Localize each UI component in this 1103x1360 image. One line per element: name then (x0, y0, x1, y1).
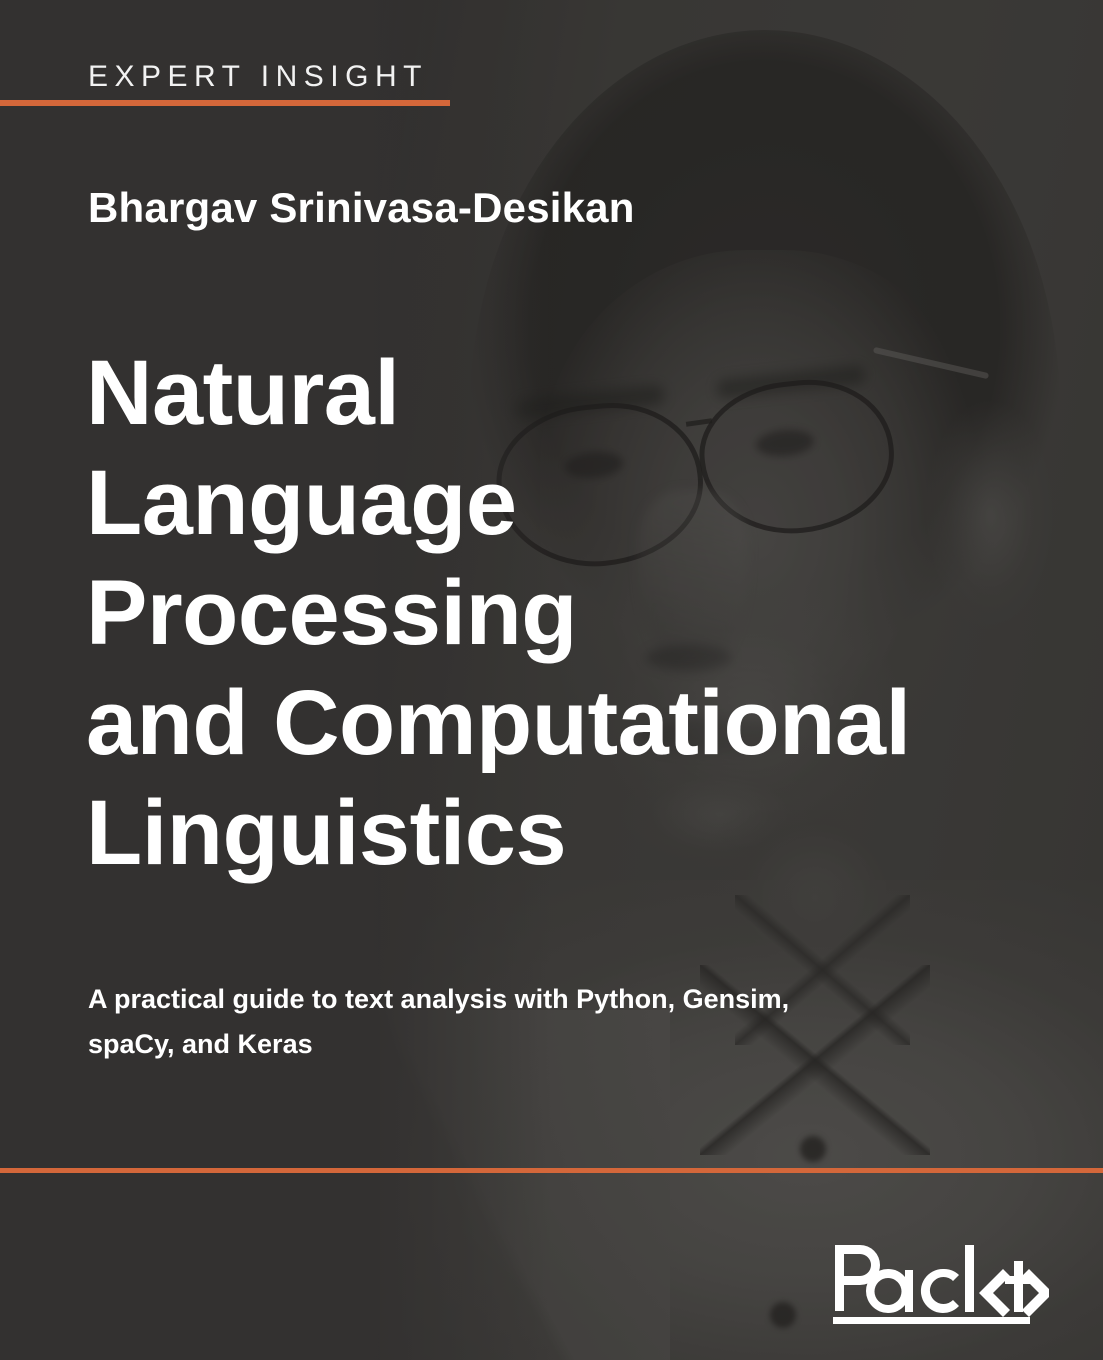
subtitle-line: A practical guide to text analysis with … (88, 977, 968, 1022)
title-line: Natural (86, 338, 1046, 448)
accent-rule-bottom (0, 1168, 1103, 1173)
title-line: and Computational (86, 668, 1046, 778)
author-name: Bhargav Srinivasa-Desikan (88, 184, 635, 232)
book-cover: EXPERT INSIGHT Bhargav Srinivasa-Desikan… (0, 0, 1103, 1360)
accent-rule-top (0, 100, 450, 106)
book-title: Natural Language Processing and Computat… (86, 338, 1046, 888)
subtitle-line: spaCy, and Keras (88, 1022, 968, 1067)
title-line: Language (86, 448, 1046, 558)
title-line: Linguistics (86, 778, 1046, 888)
book-subtitle: A practical guide to text analysis with … (88, 977, 968, 1067)
series-eyebrow-label: EXPERT INSIGHT (88, 60, 428, 94)
title-line: Processing (86, 558, 1046, 668)
packt-publisher-logo (833, 1243, 1049, 1325)
